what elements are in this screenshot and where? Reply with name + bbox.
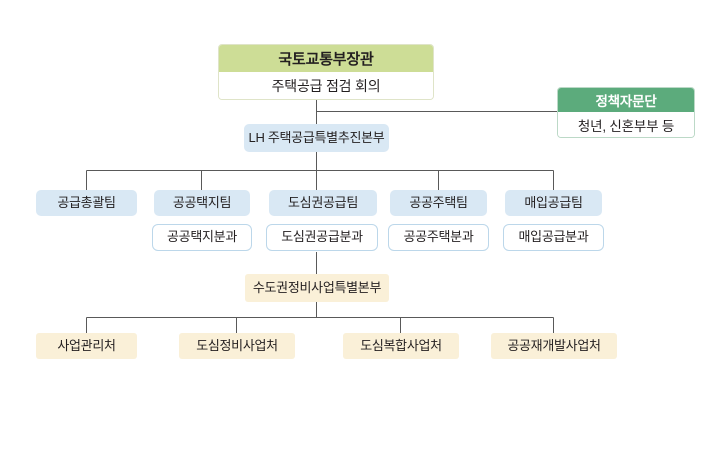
node-label: 공공재개발사업처 xyxy=(507,339,600,354)
node-label: 도심권공급팀 xyxy=(288,196,358,211)
node-office-1[interactable]: 사업관리처 xyxy=(36,333,137,359)
node-subteam-5[interactable]: 매입공급분과 xyxy=(503,224,604,251)
minister-title: 국토교통부장관 xyxy=(219,45,433,72)
minister-card[interactable]: 국토교통부장관 주택공급 점검 회의 xyxy=(218,44,434,100)
node-team-4[interactable]: 공공주택팀 xyxy=(390,190,487,216)
node-label: 매입공급분과 xyxy=(519,230,589,245)
node-office-2[interactable]: 도심정비사업처 xyxy=(179,333,295,359)
node-metro-headquarters[interactable]: 수도권정비사업특별본부 xyxy=(245,274,389,302)
org-chart: 국토교통부장관 주택공급 점검 회의 정책자문단 청년, 신혼부부 등 LH 주… xyxy=(0,0,710,451)
advisory-card[interactable]: 정책자문단 청년, 신혼부부 등 xyxy=(557,87,695,138)
node-label: 매입공급팀 xyxy=(524,196,582,211)
node-team-3[interactable]: 도심권공급팀 xyxy=(269,190,377,216)
node-team-2[interactable]: 공공택지팀 xyxy=(154,190,250,216)
node-subteam-2[interactable]: 공공택지분과 xyxy=(152,224,252,251)
node-label: 공공주택팀 xyxy=(409,196,467,211)
node-label: 도심권공급분과 xyxy=(281,230,363,245)
node-team-5[interactable]: 매입공급팀 xyxy=(505,190,602,216)
node-team-1[interactable]: 공급총괄팀 xyxy=(36,190,137,216)
node-label: 공공택지분과 xyxy=(167,230,237,245)
advisory-subtitle: 청년, 신혼부부 등 xyxy=(558,112,694,138)
node-office-4[interactable]: 공공재개발사업처 xyxy=(491,333,617,359)
node-label: 사업관리처 xyxy=(57,339,115,354)
minister-subtitle: 주택공급 점검 회의 xyxy=(219,72,433,100)
node-office-3[interactable]: 도심복합사업처 xyxy=(343,333,459,359)
node-lh-headquarters[interactable]: LH 주택공급특별추진본부 xyxy=(244,124,389,152)
node-label: 도심정비사업처 xyxy=(196,339,278,354)
advisory-title: 정책자문단 xyxy=(558,88,694,112)
node-label: 공급총괄팀 xyxy=(57,196,115,211)
node-label: 공공택지팀 xyxy=(173,196,231,211)
node-subteam-4[interactable]: 공공주택분과 xyxy=(388,224,489,251)
node-label: 도심복합사업처 xyxy=(360,339,442,354)
node-label: 수도권정비사업특별본부 xyxy=(253,281,381,296)
node-subteam-3[interactable]: 도심권공급분과 xyxy=(266,224,378,251)
node-label: 공공주택분과 xyxy=(404,230,474,245)
node-label: LH 주택공급특별추진본부 xyxy=(249,131,385,146)
